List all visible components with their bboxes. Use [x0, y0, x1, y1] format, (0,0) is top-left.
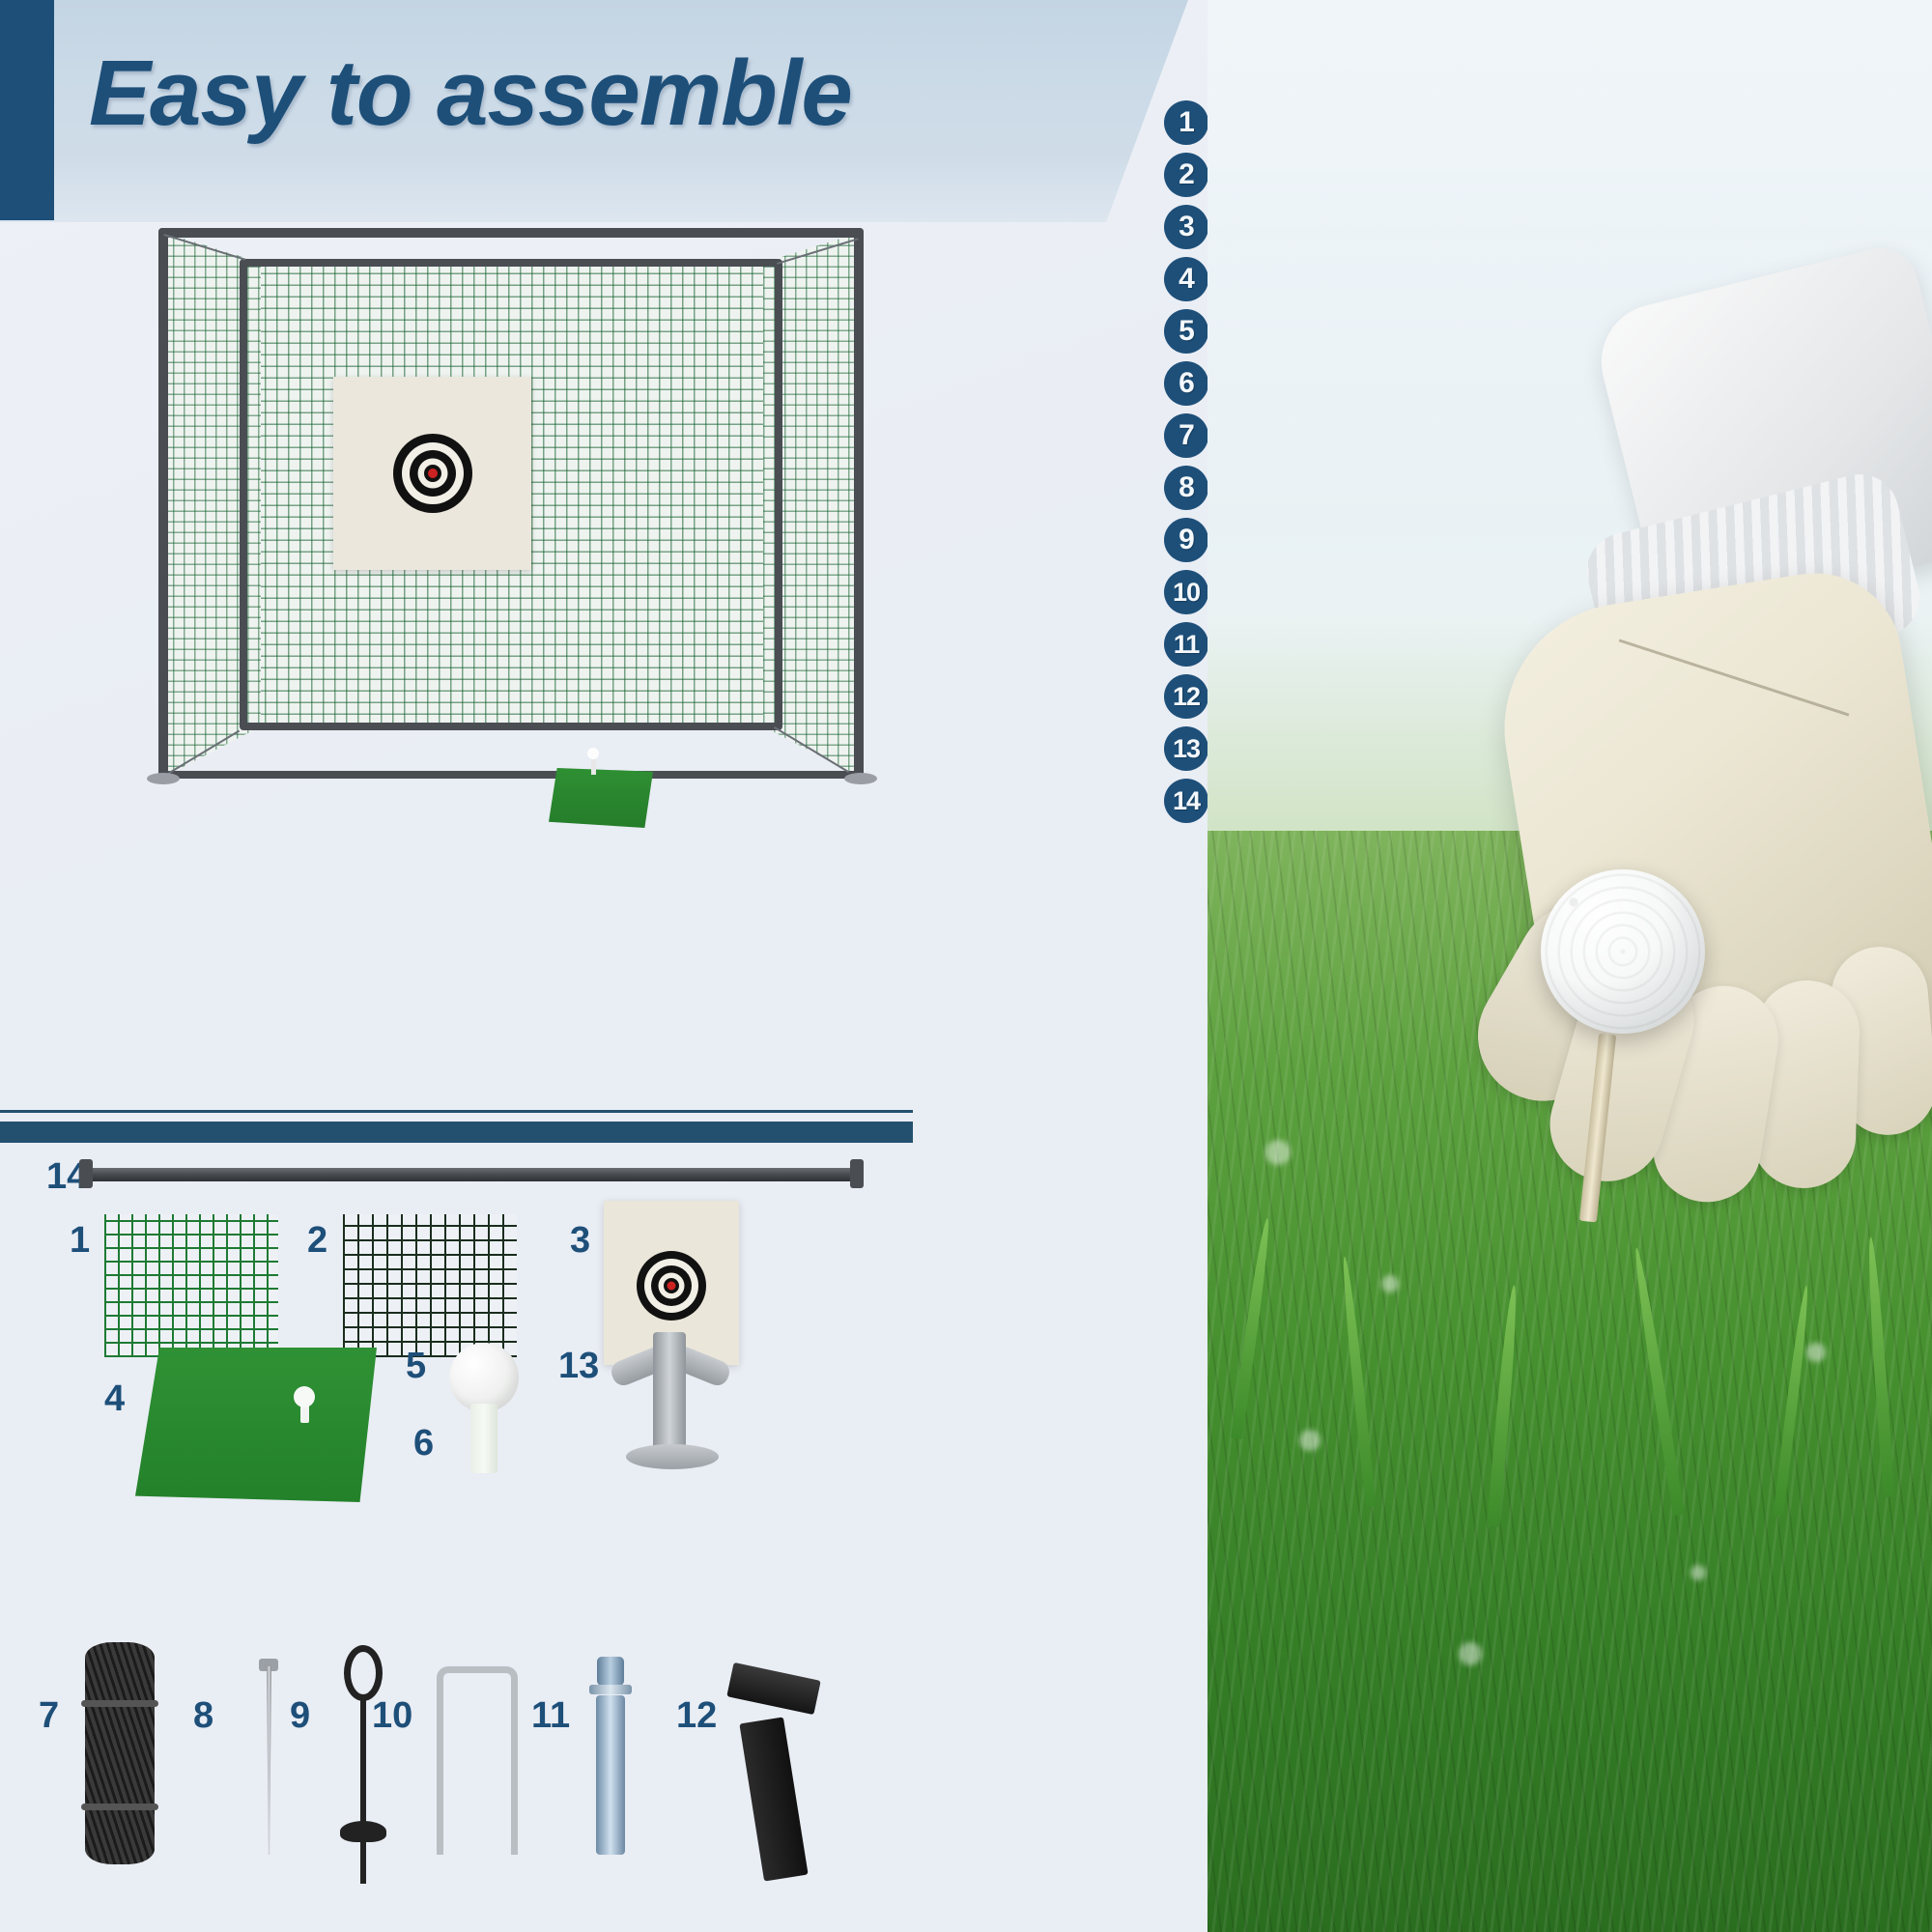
bokeh-highlight [1459, 1642, 1482, 1665]
rubber-tee-image [470, 1404, 497, 1473]
list-badge: 8 [1164, 466, 1208, 510]
velcro-strap-lower [739, 1717, 808, 1881]
list-badge: 14 [1164, 779, 1208, 823]
catalog-number-swing-mat: 4 [104, 1378, 125, 1420]
bokeh-highlight [1381, 1275, 1399, 1293]
list-badge: 5 [1164, 309, 1208, 354]
catalog-number-inside-net: 2 [307, 1220, 327, 1262]
outside-net-image [104, 1214, 278, 1357]
catalog-number-windbreak-rope: 7 [39, 1695, 59, 1737]
ground-anchor-loop [344, 1645, 383, 1701]
bokeh-highlight [1265, 1140, 1291, 1165]
lifestyle-photo [1207, 0, 1932, 1932]
list-badge: 4 [1164, 257, 1208, 301]
list-badge: 6 [1164, 361, 1208, 406]
catalog-number-iron-connector: 13 [558, 1346, 599, 1387]
swing-mat-illustration [549, 768, 653, 828]
frame-foot-left [147, 773, 180, 784]
left-panel: Easy to assemble [0, 0, 1207, 1932]
list-badge: 11 [1164, 622, 1208, 667]
catalog-number-outside-net: 1 [70, 1220, 90, 1262]
section-divider-thin [0, 1110, 913, 1113]
steel-tube-image [85, 1168, 858, 1181]
list-badge: 12 [1164, 674, 1208, 719]
list-badge: 10 [1164, 570, 1208, 614]
golf-ball-photo [1541, 869, 1705, 1034]
frame-back-left-post [240, 259, 247, 730]
expansion-bolt-washer [589, 1685, 632, 1694]
velcro-strap-upper [726, 1662, 820, 1715]
page-title: Easy to assemble [89, 41, 852, 147]
list-badge: 2 [1164, 153, 1208, 197]
anchor-stake-image [267, 1666, 271, 1855]
bokeh-highlight [1299, 1430, 1321, 1451]
frame-foot-right [844, 773, 877, 784]
frame-right-post [854, 228, 864, 779]
bokeh-highlight [1806, 1343, 1826, 1362]
section-divider-bar [0, 1122, 913, 1143]
net-assembly-illustration [145, 232, 889, 850]
expansion-bolt-body [596, 1695, 625, 1855]
catalog-number-target-cloth: 3 [570, 1220, 590, 1262]
catalog-number-practice-ball: 5 [406, 1346, 426, 1387]
steel-tube-cap-left [79, 1159, 93, 1188]
catalog-number-ground-anchor: 9 [290, 1695, 310, 1737]
ball-illustration [587, 748, 599, 759]
inside-net-image [343, 1214, 517, 1357]
catalog-number-anchor-stake: 8 [193, 1695, 213, 1737]
iron-connector-base [626, 1444, 719, 1469]
target-cloth [333, 377, 531, 570]
swing-mat-tee-top [294, 1386, 315, 1407]
frame-top-bar [158, 228, 864, 238]
list-badge: 9 [1164, 518, 1208, 562]
catalog-number-u-shaped-anchor: 10 [372, 1695, 412, 1737]
list-badge: 3 [1164, 205, 1208, 249]
catalog-number-rubber-tee: 6 [413, 1423, 434, 1464]
bokeh-highlight [1690, 1565, 1706, 1580]
catalog-number-expansion-bolt: 11 [531, 1695, 570, 1737]
practice-ball-image [449, 1343, 519, 1412]
list-badge: 1 [1164, 100, 1208, 145]
iron-connector-stem [653, 1332, 686, 1453]
list-badge: 13 [1164, 726, 1208, 771]
frame-back-right-post [775, 259, 782, 730]
golf-ball-dimples [1541, 869, 1705, 1034]
swing-mat-image [135, 1348, 377, 1502]
parts-catalog: 14 1 2 3 4 5 6 [0, 1154, 927, 1932]
list-badge: 7 [1164, 413, 1208, 458]
rope-tie-lower [81, 1804, 158, 1810]
rope-tie-upper [81, 1700, 158, 1707]
frame-bottom-bar [158, 771, 864, 779]
steel-tube-cap-right [850, 1159, 864, 1188]
windbreak-rope-image [85, 1642, 155, 1864]
u-shaped-anchor-image [437, 1666, 518, 1855]
ground-anchor-shaft [360, 1695, 366, 1884]
expansion-bolt-nut [597, 1657, 624, 1686]
frame-left-post [158, 228, 168, 779]
catalog-number-velcro: 12 [676, 1695, 717, 1737]
frame-back-bottom-bar [241, 723, 781, 730]
header-accent-bar [0, 0, 54, 220]
frame-back-top-bar [241, 259, 781, 267]
ground-anchor-screw [340, 1821, 386, 1842]
